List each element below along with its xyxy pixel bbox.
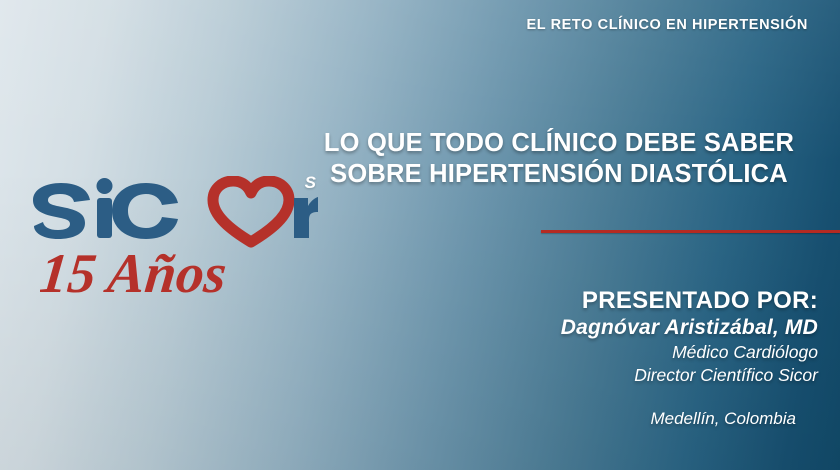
presenter-position: Director Científico Sicor [300,364,818,387]
slide-title-line-1: LO QUE TODO CLÍNICO DEBE SABER [300,128,818,159]
sicor-logo: S 15 Años [28,176,318,311]
logo-anniversary-text: 15 Años [40,243,229,305]
logo-letter-i [97,178,113,238]
presenter-city: Medellín, Colombia [300,408,818,430]
heart-icon [213,181,289,242]
presenter-role: Médico Cardiólogo [300,341,818,364]
presenter-name: Dagnóvar Aristizábal, MD [300,315,818,341]
red-divider-rule [541,230,840,233]
presenter-block: PRESENTADO POR: Dagnóvar Aristizábal, MD… [300,287,818,431]
logo-letter-s [33,183,90,239]
slide-header-eyebrow: EL RETO CLÍNICO EN HIPERTENSIÓN [0,17,808,33]
slide-title: LO QUE TODO CLÍNICO DEBE SABER SOBRE HIP… [300,128,818,191]
logo-anniversary-script: 15 Años [40,236,320,312]
logo-letter-r [294,197,318,238]
logo-letter-c [112,183,178,239]
presented-by-label: PRESENTADO POR: [300,287,818,315]
slide-title-line-2: SOBRE HIPERTENSIÓN DIASTÓLICA [300,159,818,190]
presentation-slide: EL RETO CLÍNICO EN HIPERTENSIÓN S [0,0,840,470]
